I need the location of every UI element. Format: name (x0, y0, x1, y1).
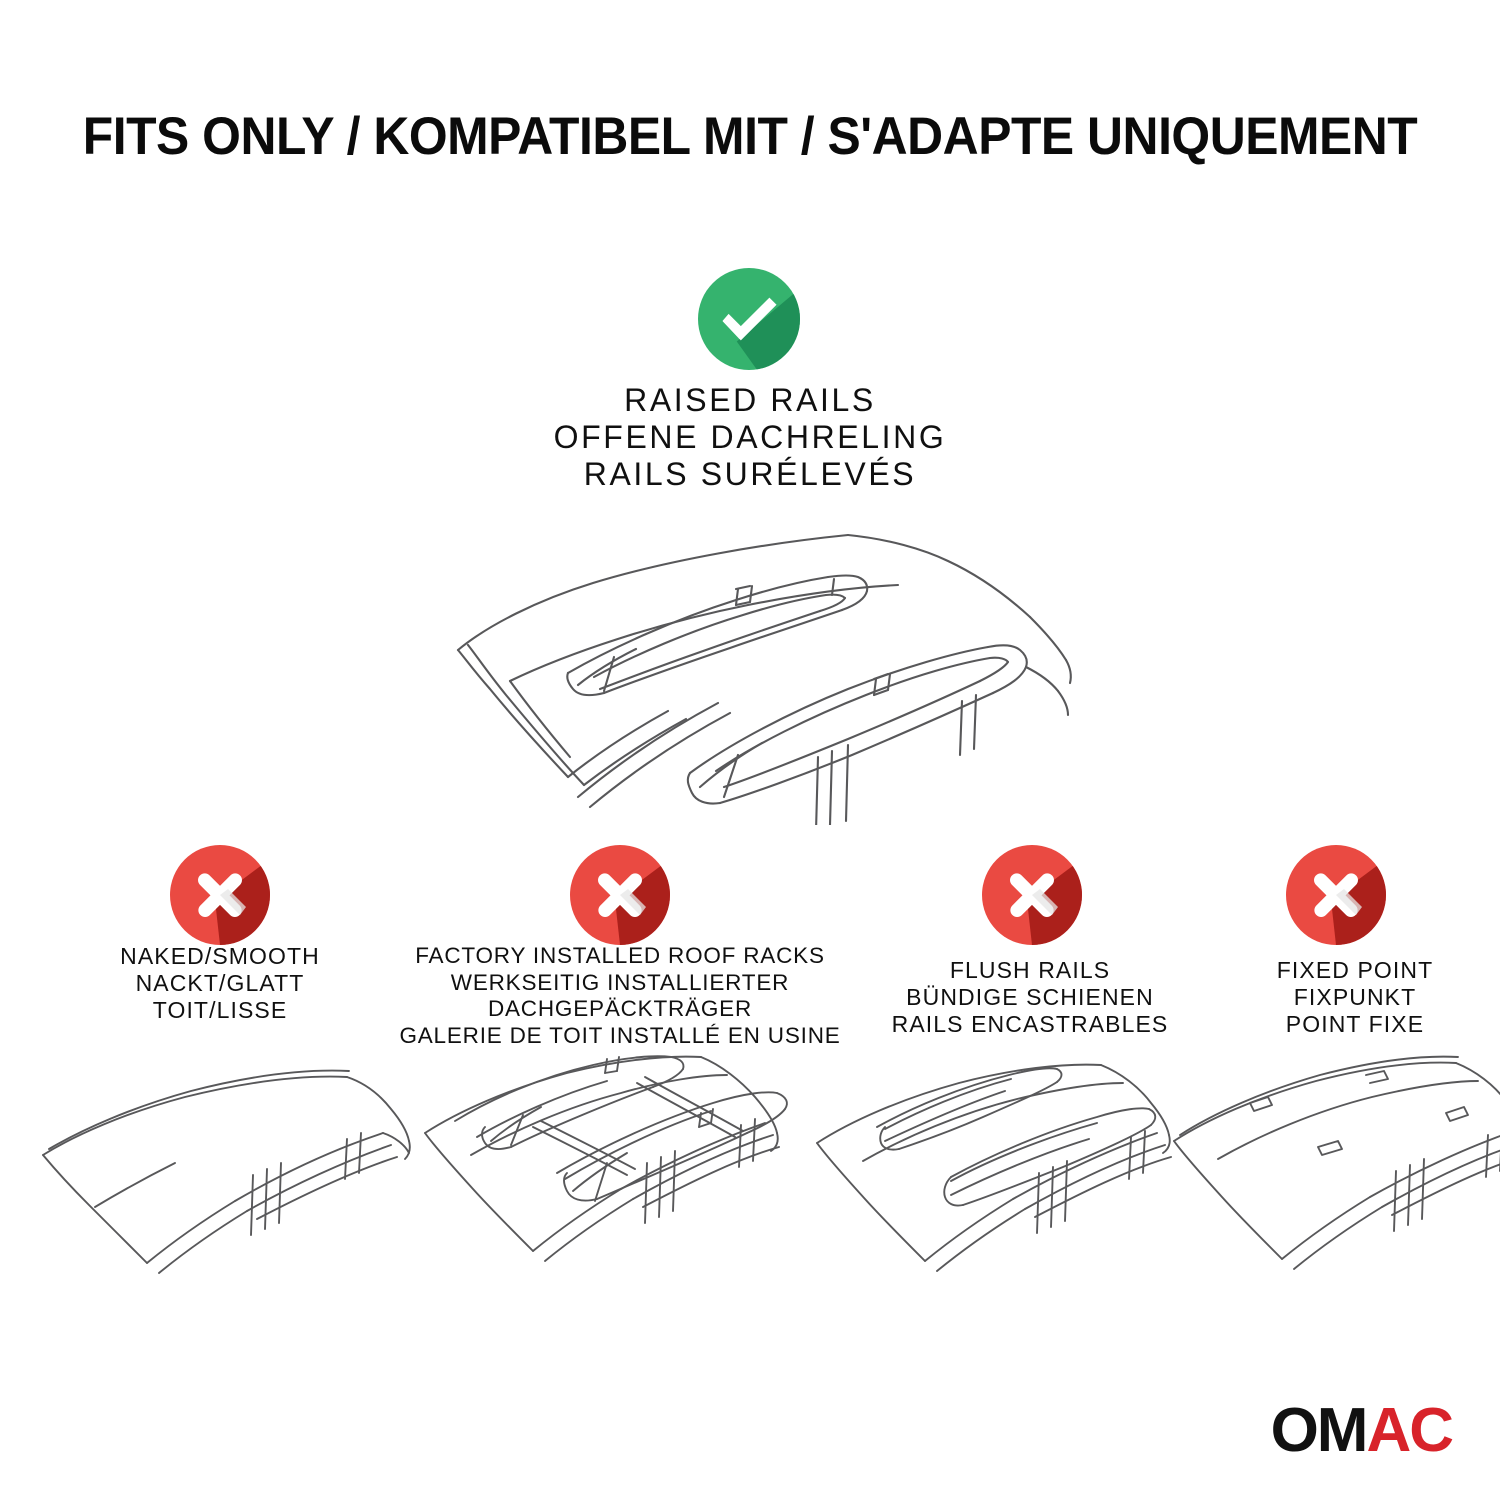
x-circle-icon (170, 845, 270, 945)
label-line: WERKSEITIG INSTALLIERTER (380, 970, 860, 997)
label-line: BÜNDIGE SCHIENEN (855, 984, 1205, 1011)
compatible-label: RAISED RAILS OFFENE DACHRELING RAILS SUR… (350, 382, 1150, 493)
x-circle-icon (982, 845, 1082, 945)
logo-text-om: OM (1271, 1396, 1367, 1465)
compatible-line-en: RAISED RAILS (350, 382, 1150, 419)
label-line: DACHGEPÄCKTRÄGER (380, 996, 860, 1023)
label-line: FACTORY INSTALLED ROOF RACKS (380, 943, 860, 970)
x-circle-icon (570, 845, 670, 945)
label-line: FLUSH RAILS (855, 957, 1205, 984)
page-title: FITS ONLY / KOMPATIBEL MIT / S'ADAPTE UN… (45, 106, 1455, 167)
compatible-line-de: OFFENE DACHRELING (350, 419, 1150, 456)
car-roof-factory-racks-illustration (415, 1055, 815, 1300)
label-line: TOIT/LISSE (30, 997, 410, 1024)
check-circle-icon (698, 268, 800, 370)
label-line: GALERIE DE TOIT INSTALLÉ EN USINE (380, 1023, 860, 1050)
label-line: POINT FIXE (1210, 1011, 1500, 1038)
logo-text-ac: AC (1366, 1396, 1452, 1465)
label-line: NAKED/SMOOTH (30, 943, 410, 970)
car-roof-flush-rails-illustration (805, 1055, 1205, 1300)
car-roof-raised-rails-illustration (418, 505, 1098, 825)
incompatible-label-naked-smooth: NAKED/SMOOTH NACKT/GLATT TOIT/LISSE (30, 943, 410, 1024)
incompatible-label-factory-racks: FACTORY INSTALLED ROOF RACKS WERKSEITIG … (380, 943, 860, 1049)
fitment-guide-page: FITS ONLY / KOMPATIBEL MIT / S'ADAPTE UN… (0, 0, 1500, 1500)
car-roof-fixed-point-illustration (1160, 1055, 1500, 1300)
omac-logo: OMAC (1271, 1400, 1452, 1462)
car-roof-naked-smooth-illustration (35, 1055, 435, 1300)
x-circle-icon (1286, 845, 1386, 945)
label-line: RAILS ENCASTRABLES (855, 1011, 1205, 1038)
label-line: NACKT/GLATT (30, 970, 410, 997)
incompatible-label-flush-rails: FLUSH RAILS BÜNDIGE SCHIENEN RAILS ENCAS… (855, 957, 1205, 1038)
label-line: FIXPUNKT (1210, 984, 1500, 1011)
compatible-line-fr: RAILS SURÉLEVÉS (350, 456, 1150, 493)
label-line: FIXED POINT (1210, 957, 1500, 984)
incompatible-label-fixed-point: FIXED POINT FIXPUNKT POINT FIXE (1210, 957, 1500, 1038)
